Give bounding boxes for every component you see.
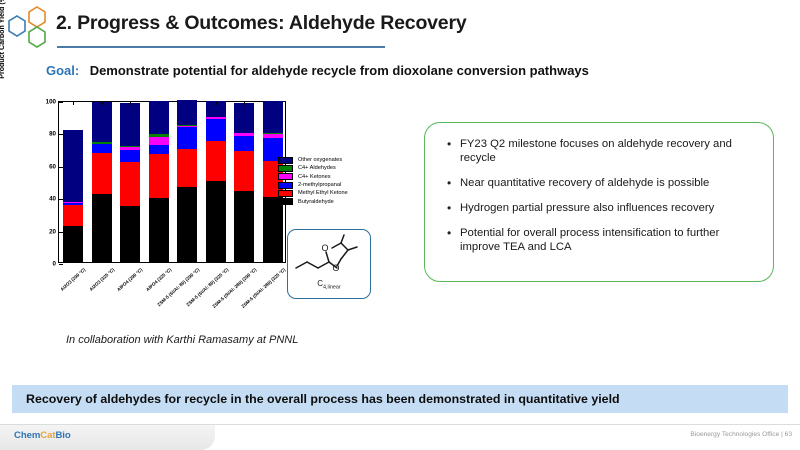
chart-legend-item: Butyraldehyde bbox=[278, 197, 348, 205]
bullet-item: •Near quantitative recovery of aldehyde … bbox=[447, 176, 753, 190]
bullet-text: Near quantitative recovery of aldehyde i… bbox=[460, 176, 709, 190]
page-title: 2. Progress & Outcomes: Aldehyde Recover… bbox=[56, 12, 466, 35]
chart-bar-segment bbox=[263, 101, 283, 134]
chart-bar-segment bbox=[63, 205, 83, 226]
chart-bar bbox=[92, 102, 112, 262]
footer-page-number: 63 bbox=[785, 431, 792, 438]
molecule-structure-card: O O C4,linear bbox=[287, 229, 371, 299]
chart-bar-segment bbox=[234, 191, 254, 262]
chart-bar-segment bbox=[234, 103, 254, 133]
title-underline-rule bbox=[57, 46, 385, 48]
chart-legend-swatch bbox=[278, 182, 293, 189]
chart-y-tick-label: 0 bbox=[53, 261, 56, 268]
chart-y-tick-mark bbox=[59, 167, 63, 168]
chart-legend-swatch bbox=[278, 190, 293, 197]
chart-bar-segment bbox=[120, 150, 140, 162]
chart-bar-segment bbox=[177, 127, 197, 149]
chart-bar-segment bbox=[149, 145, 169, 155]
chart-bar-segment bbox=[177, 187, 197, 262]
chart-bar-segment bbox=[92, 194, 112, 262]
chart-y-tick-mark bbox=[59, 232, 63, 233]
chart-x-tick-mark bbox=[244, 102, 245, 105]
bullet-text: Potential for overall process intensific… bbox=[460, 226, 753, 254]
chart-bar-segment bbox=[206, 119, 226, 140]
chart-x-tick-mark bbox=[216, 102, 217, 105]
goal-label: Goal: bbox=[46, 63, 79, 78]
chart-bar-segment bbox=[120, 103, 140, 146]
chart-bar-segment bbox=[63, 130, 83, 202]
chart-legend-label: 2-methylpropanal bbox=[298, 182, 341, 188]
chart-x-tick-label: AlPO4 (325 °C) bbox=[145, 267, 172, 292]
summary-banner-text: Recovery of aldehydes for recycle in the… bbox=[26, 392, 620, 406]
chart-bar-segment bbox=[92, 144, 112, 152]
chart-x-tick-mark bbox=[102, 102, 103, 105]
molecule-label-sub: 4,linear bbox=[323, 285, 341, 291]
chart-y-tick-label: 100 bbox=[46, 99, 56, 106]
chart-x-tick-label: AlPO4 (290 °C) bbox=[116, 267, 143, 292]
oxygen-atom-label-1: O bbox=[321, 243, 328, 253]
slide-canvas: 2. Progress & Outcomes: Aldehyde Recover… bbox=[0, 0, 800, 450]
findings-bullet-card: •FY23 Q2 milestone focuses on aldehyde r… bbox=[424, 122, 774, 282]
chart-x-tick-mark bbox=[187, 102, 188, 105]
chart-bar-segment bbox=[63, 226, 83, 262]
chart-bar-segment bbox=[92, 153, 112, 194]
bullet-marker-icon: • bbox=[447, 201, 460, 215]
chart-bar-segment bbox=[206, 141, 226, 182]
chart-y-tick-mark bbox=[59, 264, 63, 265]
chart-legend-swatch bbox=[278, 157, 293, 164]
wordmark-part-cat: Cat bbox=[40, 430, 55, 441]
bullet-text: Hydrogen partial pressure also influence… bbox=[460, 201, 714, 215]
chart-legend-item: 2-methylpropanal bbox=[278, 181, 348, 189]
chart-bar bbox=[149, 101, 169, 262]
footer-office-text: Bioenergy Technologies Office | 63 bbox=[690, 431, 792, 438]
chart-x-tick-mark bbox=[130, 102, 131, 105]
chart-bar-segment bbox=[120, 206, 140, 262]
chart-y-axis-label: Product Carbon Yield (%) (Butyl) bbox=[0, 0, 10, 104]
chart-bar-segment bbox=[206, 181, 226, 262]
goal-statement: Goal: Demonstrate potential for aldehyde… bbox=[46, 62, 589, 80]
collaboration-caption: In collaboration with Karthi Ramasamy at… bbox=[66, 334, 298, 346]
chart-x-tick-mark bbox=[73, 102, 74, 105]
chart-y-tick-label: 40 bbox=[49, 196, 56, 203]
chart-legend-swatch bbox=[278, 165, 293, 172]
chart-bar-segment bbox=[263, 197, 283, 262]
chart-bar bbox=[120, 103, 140, 262]
dioxolane-structure-icon: O O bbox=[291, 233, 369, 283]
chart-bar bbox=[234, 103, 254, 262]
chart-legend-item: Other oxygenates bbox=[278, 156, 348, 164]
chart-legend-label: Other oxygenates bbox=[298, 157, 342, 163]
chart-legend-swatch bbox=[278, 173, 293, 180]
chart-legend-label: Butyraldehyde bbox=[298, 199, 334, 205]
wordmark-part-bio: Bio bbox=[55, 430, 70, 441]
chart-legend-item: Methyl Ethyl Ketone bbox=[278, 189, 348, 197]
chart-x-tick-label: Al2O3 (290 °C) bbox=[60, 267, 87, 292]
chart-y-tick-mark bbox=[59, 199, 63, 200]
summary-banner: Recovery of aldehydes for recycle in the… bbox=[12, 385, 788, 413]
chart-bar bbox=[63, 130, 83, 262]
chart-bar-segment bbox=[92, 102, 112, 142]
chart-bar-segment bbox=[120, 162, 140, 205]
bullet-item: •FY23 Q2 milestone focuses on aldehyde r… bbox=[447, 137, 753, 165]
chart-bar-segment bbox=[177, 149, 197, 187]
chemcatbio-wordmark: ChemCatBio bbox=[14, 430, 71, 441]
chart-legend-item: C4+ Ketones bbox=[278, 173, 348, 181]
chart-bar-segment bbox=[234, 136, 254, 151]
bullet-marker-icon: • bbox=[447, 176, 460, 190]
chart-plot-area: 020406080100Al2O3 (290 °C)Al2O3 (325 °C)… bbox=[58, 101, 286, 263]
molecule-label: C4,linear bbox=[288, 279, 370, 291]
chart-bar-segment bbox=[149, 198, 169, 262]
chart-y-tick-label: 80 bbox=[49, 131, 56, 138]
chemcatbio-hexagon-logo bbox=[2, 4, 60, 58]
chart-x-tick-mark bbox=[159, 102, 160, 105]
chart-x-tick-label: Al2O3 (325 °C) bbox=[88, 267, 115, 292]
chart-bar bbox=[177, 100, 197, 262]
chart-x-tick-mark bbox=[273, 102, 274, 105]
bullet-marker-icon: • bbox=[447, 226, 460, 254]
chart-y-tick-mark bbox=[59, 102, 63, 103]
wordmark-part-chem: Chem bbox=[14, 430, 40, 441]
chart-bar bbox=[206, 101, 226, 262]
chart-legend-label: C4+ Ketones bbox=[298, 174, 331, 180]
bullet-text: FY23 Q2 milestone focuses on aldehyde re… bbox=[460, 137, 753, 165]
goal-text: Demonstrate potential for aldehyde recyc… bbox=[90, 63, 589, 78]
stacked-bar-chart: Product Carbon Yield (%) (Butyl) 0204060… bbox=[26, 96, 296, 286]
chart-bar-segment bbox=[149, 101, 169, 134]
chart-bar-segment bbox=[234, 151, 254, 191]
chart-legend-label: Methyl Ethyl Ketone bbox=[298, 190, 348, 196]
chart-legend: Other oxygenatesC4+ AldehydesC4+ Ketones… bbox=[278, 156, 348, 206]
chart-y-tick-label: 60 bbox=[49, 163, 56, 170]
footer-separator: | bbox=[781, 431, 783, 438]
bullet-item: •Potential for overall process intensifi… bbox=[447, 226, 753, 254]
bullet-item: •Hydrogen partial pressure also influenc… bbox=[447, 201, 753, 215]
chart-legend-label: C4+ Aldehydes bbox=[298, 165, 336, 171]
chart-legend-item: C4+ Aldehydes bbox=[278, 164, 348, 172]
chart-legend-swatch bbox=[278, 198, 293, 205]
chart-y-tick-label: 20 bbox=[49, 228, 56, 235]
chart-y-tick-mark bbox=[59, 134, 63, 135]
chart-bar-segment bbox=[149, 154, 169, 198]
footer-office-label: Bioenergy Technologies Office bbox=[690, 431, 779, 438]
bullet-marker-icon: • bbox=[447, 137, 460, 165]
chart-bar-segment bbox=[149, 137, 169, 144]
oxygen-atom-label-2: O bbox=[332, 263, 339, 273]
